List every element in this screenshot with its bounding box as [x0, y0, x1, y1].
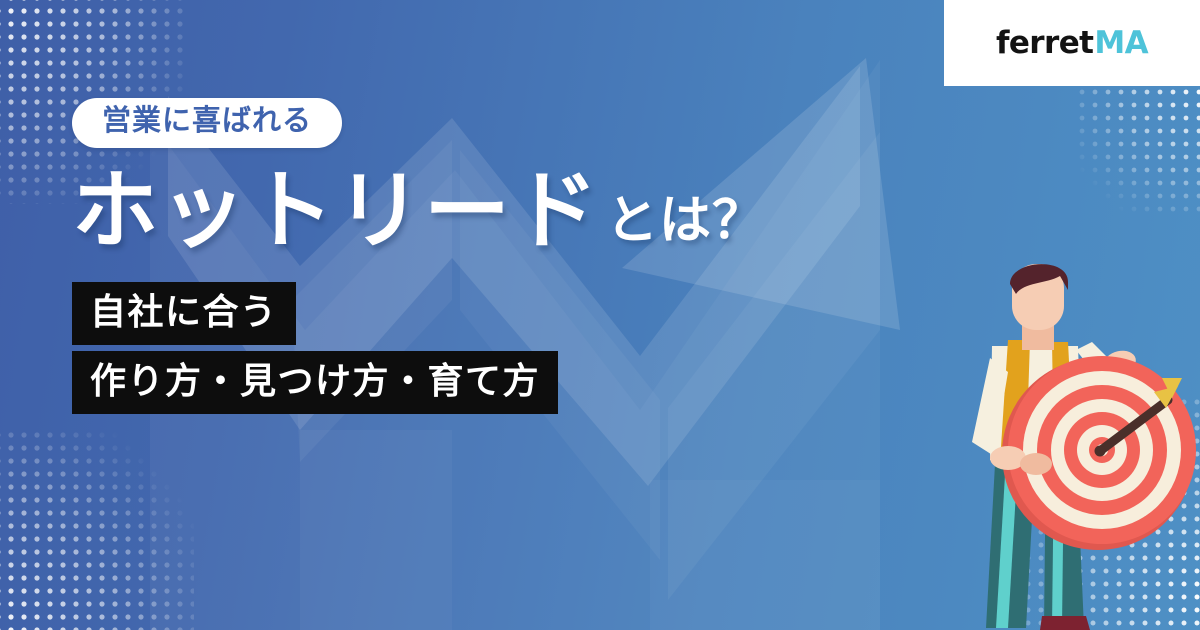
brand-logo: ferret MA: [996, 25, 1148, 61]
man-holding-dartboard-target-illustration: [950, 250, 1200, 630]
subline-row-1: 自社に合う: [72, 282, 972, 345]
subline-2: 作り方・見つけ方・育て方: [72, 351, 558, 414]
page-title: ホットリード とは？: [72, 166, 972, 256]
subline-row-2: 作り方・見つけ方・育て方: [72, 351, 972, 414]
banner-copy: 営業に喜ばれる ホットリード とは？ 自社に合う 作り方・見つけ方・育て方: [72, 98, 972, 414]
brand-logo-plate[interactable]: ferret MA: [944, 0, 1200, 86]
brand-logo-primary: ferret: [996, 25, 1093, 61]
banner-stage: ferret MA 営業に喜ばれる ホットリード とは？ 自社に合う 作り方・見…: [0, 0, 1200, 630]
eyebrow-badge-label: 営業に喜ばれる: [102, 107, 312, 136]
headline-suffix: とは？: [606, 195, 765, 256]
brand-logo-accent: MA: [1094, 25, 1148, 61]
headline-main: ホットリード: [72, 166, 600, 256]
subline-1: 自社に合う: [72, 282, 296, 345]
eyebrow-badge: 営業に喜ばれる: [72, 98, 342, 148]
